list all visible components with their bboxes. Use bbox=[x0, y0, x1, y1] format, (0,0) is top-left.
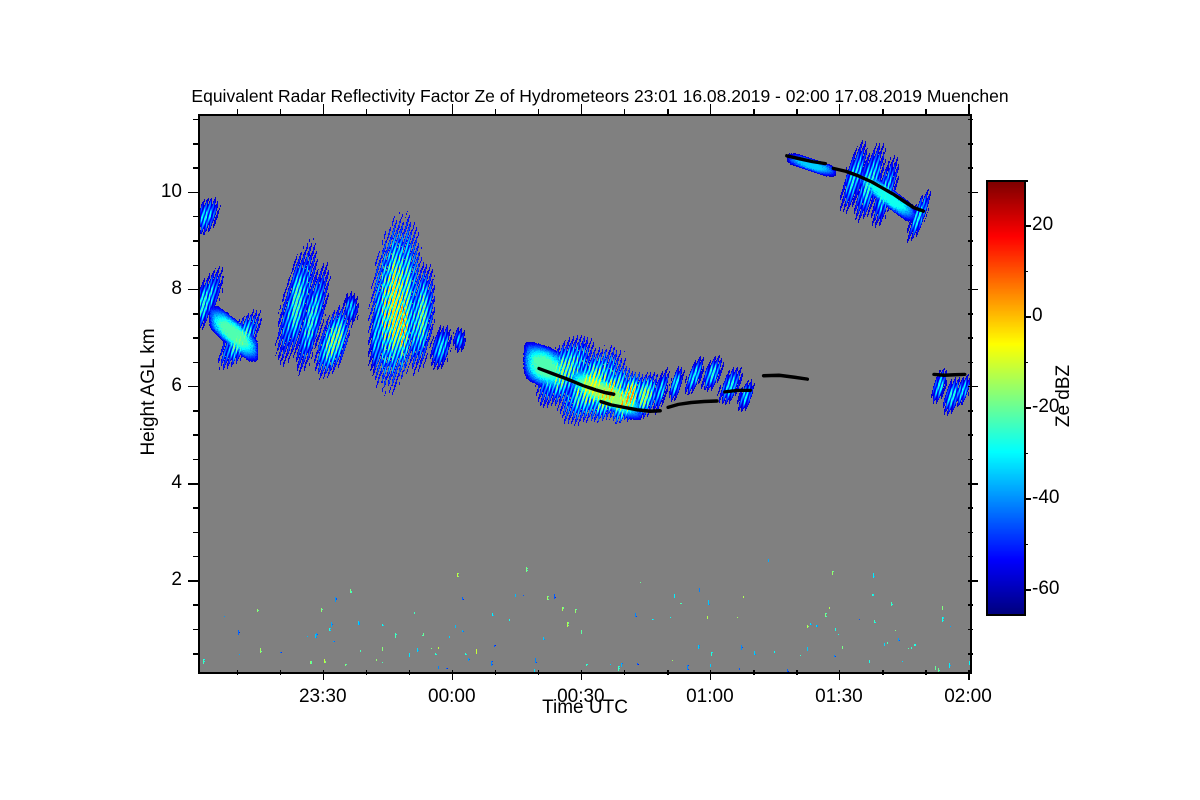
x-tick-major bbox=[839, 670, 841, 680]
y-tick-minor bbox=[193, 434, 198, 436]
colorbar-tick bbox=[1024, 407, 1031, 409]
x-tick-minor-top bbox=[882, 109, 884, 114]
y-tick-minor-right bbox=[968, 143, 973, 145]
colorbar-tick-label-1: 0 bbox=[1032, 305, 1043, 327]
x-tick-major bbox=[968, 670, 970, 680]
y-tick-minor bbox=[193, 629, 198, 631]
x-tick-minor bbox=[796, 670, 798, 675]
y-tick-minor-right bbox=[968, 240, 973, 242]
colorbar-gradient bbox=[988, 182, 1024, 614]
x-tick-major bbox=[323, 670, 325, 680]
y-tick-major bbox=[188, 289, 198, 291]
y-tick-minor bbox=[193, 265, 198, 267]
colorbar-label: Ze dBZ bbox=[1053, 365, 1075, 427]
page-title: Equivalent Radar Reflectivity Factor Ze … bbox=[191, 86, 1008, 107]
x-tick-minor-top bbox=[280, 109, 282, 114]
y-tick-major bbox=[188, 580, 198, 582]
y-tick-minor bbox=[193, 653, 198, 655]
x-tick-minor bbox=[409, 670, 411, 675]
x-tick-major-top bbox=[581, 104, 583, 114]
y-tick-minor-right bbox=[968, 507, 973, 509]
x-tick-major bbox=[452, 670, 454, 680]
y-tick-minor bbox=[193, 507, 198, 509]
y-tick-major bbox=[188, 192, 198, 194]
x-tick-major-top bbox=[710, 104, 712, 114]
x-tick-minor-top bbox=[796, 109, 798, 114]
x-tick-label-3: 01:00 bbox=[686, 686, 734, 708]
y-tick-minor bbox=[193, 362, 198, 364]
y-tick-major-right bbox=[968, 192, 978, 194]
x-tick-minor bbox=[624, 670, 626, 675]
colorbar-tick-minor bbox=[1024, 271, 1028, 273]
y-tick-minor bbox=[193, 119, 198, 121]
y-tick-major-right bbox=[968, 289, 978, 291]
x-tick-label-0: 23:30 bbox=[299, 686, 347, 708]
x-tick-minor-top bbox=[495, 109, 497, 114]
x-tick-minor bbox=[237, 670, 239, 675]
y-tick-minor bbox=[193, 313, 198, 315]
colorbar-tick-minor bbox=[1024, 544, 1028, 546]
y-tick-minor-right bbox=[968, 313, 973, 315]
y-tick-minor bbox=[193, 532, 198, 534]
y-tick-minor bbox=[193, 337, 198, 339]
x-tick-minor-top bbox=[538, 109, 540, 114]
y-tick-label-4: 10 bbox=[154, 181, 182, 203]
x-tick-major-top bbox=[452, 104, 454, 114]
x-tick-label-4: 01:30 bbox=[815, 686, 863, 708]
x-tick-minor bbox=[280, 670, 282, 675]
x-tick-major-top bbox=[968, 104, 970, 114]
x-tick-minor bbox=[667, 670, 669, 675]
x-tick-minor bbox=[753, 670, 755, 675]
y-tick-minor-right bbox=[968, 532, 973, 534]
x-tick-major bbox=[581, 670, 583, 680]
y-tick-minor-right bbox=[968, 434, 973, 436]
y-tick-minor-right bbox=[968, 653, 973, 655]
y-tick-minor bbox=[193, 556, 198, 558]
y-tick-major-right bbox=[968, 580, 978, 582]
y-tick-minor-right bbox=[968, 410, 973, 412]
y-tick-minor-right bbox=[968, 556, 973, 558]
colorbar-tick bbox=[1024, 225, 1031, 227]
y-tick-minor-right bbox=[968, 265, 973, 267]
x-tick-minor-top bbox=[409, 109, 411, 114]
x-tick-label-1: 00:00 bbox=[428, 686, 476, 708]
x-tick-minor-top bbox=[366, 109, 368, 114]
colorbar-tick bbox=[1024, 589, 1031, 591]
y-tick-minor-right bbox=[968, 119, 973, 121]
y-axis-label: Height AGL km bbox=[138, 328, 160, 455]
x-tick-minor-top bbox=[753, 109, 755, 114]
y-tick-major bbox=[188, 483, 198, 485]
radar-heatmap-canvas bbox=[200, 116, 970, 672]
x-tick-major bbox=[710, 670, 712, 680]
y-tick-minor bbox=[193, 167, 198, 169]
x-tick-minor-top bbox=[624, 109, 626, 114]
y-tick-label-0: 2 bbox=[154, 569, 182, 591]
colorbar bbox=[986, 180, 1026, 616]
y-tick-minor-right bbox=[968, 629, 973, 631]
y-tick-minor-right bbox=[968, 337, 973, 339]
y-tick-minor-right bbox=[968, 362, 973, 364]
x-tick-major-top bbox=[323, 104, 325, 114]
colorbar-tick-label-3: -40 bbox=[1032, 487, 1059, 509]
colorbar-tick bbox=[1024, 316, 1031, 318]
y-tick-major-right bbox=[968, 483, 978, 485]
y-tick-minor bbox=[193, 459, 198, 461]
x-tick-minor-top bbox=[925, 109, 927, 114]
y-tick-minor-right bbox=[968, 459, 973, 461]
x-axis-label: Time UTC bbox=[542, 697, 628, 719]
y-tick-minor-right bbox=[968, 216, 973, 218]
x-tick-minor bbox=[882, 670, 884, 675]
x-tick-minor bbox=[538, 670, 540, 675]
y-tick-minor bbox=[193, 143, 198, 145]
colorbar-tick-minor bbox=[1024, 362, 1028, 364]
x-tick-minor-top bbox=[237, 109, 239, 114]
radar-figure: { "figure": { "title": "Equivalent Radar… bbox=[0, 0, 1200, 800]
plot-area bbox=[198, 114, 972, 674]
colorbar-tick-minor bbox=[1024, 453, 1028, 455]
y-tick-minor-right bbox=[968, 167, 973, 169]
colorbar-tick-label-4: -60 bbox=[1032, 578, 1059, 600]
x-tick-minor bbox=[366, 670, 368, 675]
x-tick-major-top bbox=[839, 104, 841, 114]
y-tick-minor bbox=[193, 216, 198, 218]
y-tick-label-1: 4 bbox=[154, 472, 182, 494]
y-tick-major bbox=[188, 386, 198, 388]
colorbar-tick-label-0: 20 bbox=[1032, 214, 1053, 236]
y-tick-major-right bbox=[968, 386, 978, 388]
x-tick-label-5: 02:00 bbox=[944, 686, 992, 708]
y-tick-minor-right bbox=[968, 604, 973, 606]
x-tick-minor bbox=[495, 670, 497, 675]
colorbar-tick bbox=[1024, 498, 1031, 500]
y-tick-label-3: 8 bbox=[154, 278, 182, 300]
y-tick-minor bbox=[193, 240, 198, 242]
colorbar-tick-minor bbox=[1024, 180, 1028, 182]
x-tick-minor-top bbox=[667, 109, 669, 114]
x-tick-minor bbox=[925, 670, 927, 675]
y-tick-minor bbox=[193, 410, 198, 412]
y-tick-minor bbox=[193, 604, 198, 606]
